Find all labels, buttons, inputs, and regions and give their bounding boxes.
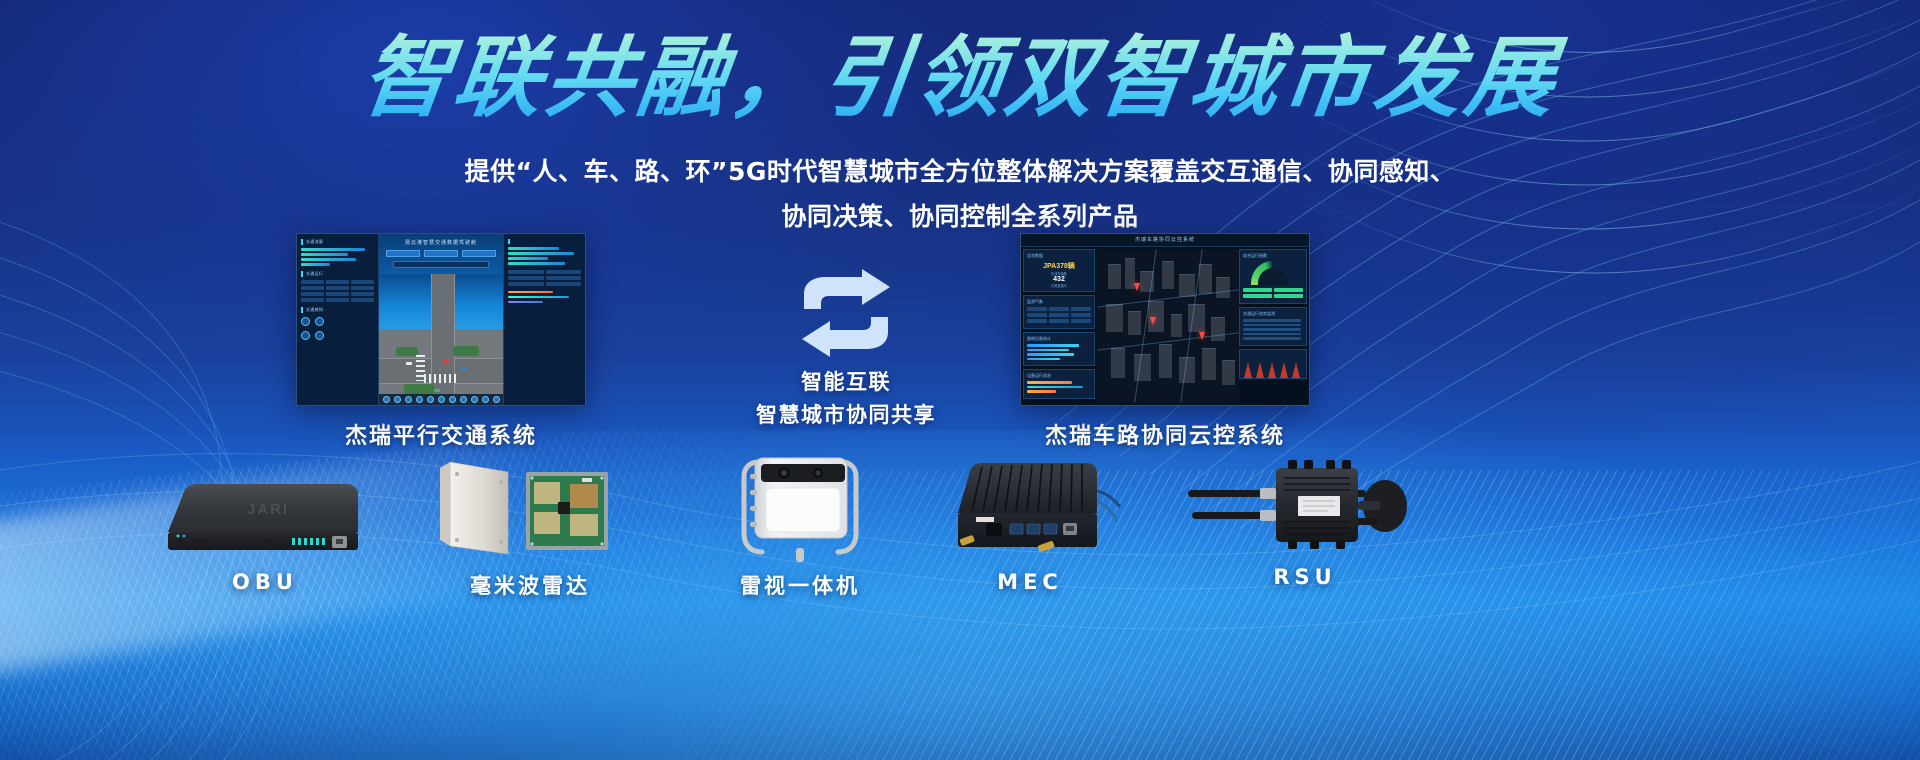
status-dot [301,331,310,340]
parallel-traffic-bottom-toolbar[interactable] [379,394,503,405]
city-3d-map[interactable] [1097,249,1239,403]
panel-section-title: 交通感知 [301,307,374,313]
toolbar-buttons[interactable] [379,250,503,257]
scene-crosswalk [424,374,458,383]
panel-title: 设备运行状态 [1027,373,1091,379]
scene-grass [396,347,418,356]
toolbar-button-vehicle-overview[interactable] [424,250,458,257]
overview-stats-box: 总览数据 JPA378辆 在线车辆数 432 已覆盖路口 [1023,249,1095,292]
product-label-obu: OBU [150,570,380,594]
scene-vehicle [406,362,412,365]
parallel-traffic-search-input[interactable] [393,261,489,268]
toolbar-button-vehicle-tracking[interactable] [386,250,420,257]
cloud-control-header: 杰瑞车路协同云控系统 [1021,234,1309,247]
interconnect-block: 智能互联 智慧城市协同共享 [748,268,944,431]
product-obu[interactable]: JARI OBU [150,470,380,594]
radar-device-image [430,450,630,565]
panel-section-flow: 交通流量 [301,239,374,266]
panel-section-sensing: 交通感知 [301,307,374,340]
device-status-box: 设备运行状态 [1023,369,1095,399]
cloud-control-ui: 杰瑞车路协同云控系统 [1021,234,1309,405]
product-camera-radar[interactable]: 雷视一体机 [700,440,900,600]
toolbar-icon-alert[interactable] [460,396,467,403]
product-rsu[interactable]: RSU [1180,450,1430,589]
panel-title: 综合运行指数 [1243,253,1303,259]
traffic-3d-scene [379,274,503,405]
traffic-situation-table-box: 交通运行态势监测 [1239,307,1307,346]
system-card-parallel-traffic[interactable]: 扬云港智慧交通数据驾驶舱 交通流量 交通运行 [296,233,586,450]
stat-value: JPA378辆 [1027,261,1091,271]
subtitle-line-2: 协同决策、协同控制全系列产品 [0,195,1920,240]
toolbar-icon-route[interactable] [438,396,445,403]
toolbar-button-vehicle-management[interactable] [462,250,496,257]
banner-title-wrapper: 智联共融，引领双智城市发展 [0,24,1920,131]
weather-box: 监测气象 [1023,295,1095,329]
status-dot [301,317,310,326]
panel-section-operation: 交通运行 [301,271,374,302]
page-title: 智联共融，引领双智城市发展 [345,24,1574,131]
scene-vehicle [461,367,467,370]
system-card-cloud-control[interactable]: 杰瑞车路协同云控系统 [1020,233,1310,450]
panel-title: 交通运行态势监测 [1243,311,1303,317]
map-marker[interactable] [1134,283,1140,291]
product-label-mec: MEC [930,570,1130,594]
parallel-traffic-toolbar: 扬云港智慧交通数据驾驶舱 [379,234,503,274]
subtitle-line-1: 提供“人、车、路、环”5G时代智慧城市全方位整体解决方案覆盖交互通信、协同感知、 [0,150,1920,195]
scene-crosswalk [416,355,425,381]
product-label-radar: 毫米波雷达 [430,570,630,600]
toolbar-icon-signal[interactable] [405,396,412,403]
camera-radar-device-image [700,440,900,565]
operation-index-gauge-box: 综合运行指数 [1239,249,1307,304]
interconnect-text: 智能互联 智慧城市协同共享 [748,366,944,431]
toolbar-icon-more[interactable] [493,396,500,403]
map-marker[interactable] [1199,332,1205,340]
scene-road-vertical [431,274,455,405]
panel-title: 监测气象 [1027,299,1091,305]
event-spike-chart-box [1239,349,1307,379]
panel-section-title: 交通运行 [301,271,374,277]
obu-device-image: JARI [150,470,380,565]
status-dot [315,331,324,340]
parallel-traffic-screen-title: 扬云港智慧交通数据驾驶舱 [379,234,503,246]
toolbar-icon-radar[interactable] [416,396,423,403]
toolbar-icon-list[interactable] [427,396,434,403]
map-marker[interactable] [1150,317,1156,325]
toolbar-icon-cloud[interactable] [482,396,489,403]
product-label-camera-radar: 雷视一体机 [700,570,900,600]
scene-grass [453,346,479,356]
exchange-arrows-icon [796,268,896,358]
toolbar-icon-vehicle[interactable] [471,396,478,403]
parallel-traffic-right-panel [503,234,585,405]
system-caption-cloud-control: 杰瑞车路协同云控系统 [1020,418,1310,450]
rsu-device-image [1180,450,1430,560]
toolbar-icon-layers[interactable] [383,396,390,403]
interconnect-line-2: 智慧城市协同共享 [748,399,944,432]
stat-label: 已覆盖路口 [1027,283,1091,288]
panel-section-title [508,239,581,244]
product-radar[interactable]: 毫米波雷达 [430,450,630,600]
panel-section-title: 交通流量 [301,239,374,245]
product-mec[interactable]: MEC [930,455,1130,594]
stat-value: 432 [1027,276,1091,283]
status-dot [315,317,324,326]
product-label-rsu: RSU [1180,565,1430,589]
toolbar-icon-camera[interactable] [394,396,401,403]
cloud-control-screen-title: 杰瑞车路协同云控系统 [1135,236,1195,243]
system-caption-parallel-traffic: 杰瑞平行交通系统 [296,418,586,450]
cloud-control-left-panel: 总览数据 JPA378辆 在线车辆数 432 已覆盖路口 监测气象 路侧设备统计 [1023,249,1095,403]
panel-title: 路侧设备统计 [1027,336,1091,342]
parallel-traffic-screenshot: 扬云港智慧交通数据驾驶舱 交通流量 交通运行 [296,233,586,406]
toolbar-icon-search[interactable] [449,396,456,403]
gauge-chart [1251,261,1295,285]
scene-vehicle [434,389,440,392]
roadside-device-stats-box: 路侧设备统计 [1023,332,1095,366]
interconnect-line-1: 智能互联 [748,366,944,399]
obu-brand-text: JARI [247,501,289,518]
cloud-control-right-panel: 综合运行指数 交通运行态势监测 [1239,249,1307,403]
parallel-traffic-left-panel: 交通流量 交通运行 交通感知 [297,234,379,405]
banner-subtitle: 提供“人、车、路、环”5G时代智慧城市全方位整体解决方案覆盖交互通信、协同感知、… [0,150,1920,239]
mec-device-image [930,455,1130,565]
panel-title: 总览数据 [1027,253,1091,259]
cloud-control-screenshot: 杰瑞车路协同云控系统 [1020,233,1310,406]
